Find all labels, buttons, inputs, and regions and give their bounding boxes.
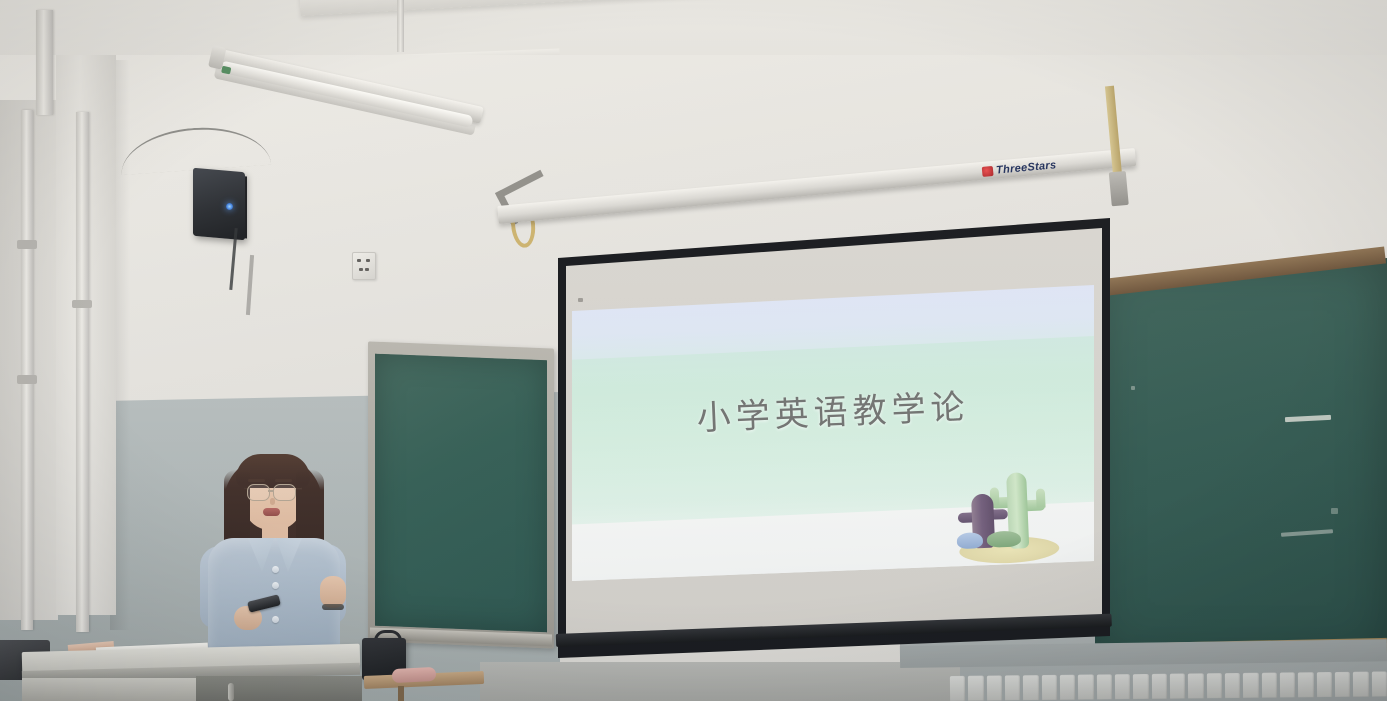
radiator-fin [1371,671,1387,696]
side-table-leg [398,686,404,701]
radiator-fin [1115,674,1131,699]
wristwatch [322,604,344,610]
projected-slide: 小学英语教学论 [572,285,1094,581]
eyebrow-right [275,479,292,482]
blouse-button [272,582,279,589]
chalk-dot [1331,508,1338,514]
eyebrow-left [248,479,265,482]
nose [270,498,275,505]
desk-door-handle[interactable] [228,683,234,701]
radiator-fin [1170,674,1186,699]
teacher-desk-front-panel [196,676,362,701]
pipe-clamp [17,375,37,384]
radiator-fin [1280,672,1296,697]
radiator-fin [987,675,1003,700]
teacher-desk-side [22,678,198,701]
radiator-fin [950,676,966,701]
chalk-dot [1131,386,1135,390]
pipe-clamp [72,300,92,308]
screen-surface-mark [578,298,583,302]
wall-power-socket[interactable] [352,252,376,280]
eyeglasses-bridge [268,490,274,492]
cactus-arm [992,509,1008,520]
desert-plant-blue [957,532,984,549]
wall-pipe-vertical-top [36,10,53,115]
radiator-fin [1353,672,1369,697]
classroom-photo-scene: ThreeStars 小学英语教学论 [0,0,1387,701]
radiator-fin [1151,674,1167,699]
mouth [263,508,280,516]
chalkboard-surface [375,354,547,633]
speaker-power-led [226,203,233,210]
radiator-fin [1096,674,1112,699]
radiator-fin [1243,673,1259,698]
floor-strip [480,662,960,701]
cactus-arm-upper [1036,488,1046,507]
presenter-figure [186,448,358,663]
pink-item-on-table[interactable] [392,667,437,683]
radiator-fin [968,676,984,701]
screen-mount-clamp [1109,171,1129,206]
chalkboard-left [368,341,554,648]
wall-pipe-left [21,110,33,630]
radiator-fin [1316,672,1332,697]
radiator-fin [1188,673,1204,698]
threestars-logo-icon [982,166,994,177]
wall-pipe-right [76,112,89,632]
radiator-fin [1023,675,1039,700]
radiator-fin [1005,675,1021,700]
radiator-fin [1225,673,1241,698]
radiator-fin [1060,675,1076,700]
cactus-illustration [948,469,1067,569]
chalkboard-surface [1095,258,1387,658]
radiator [950,671,1387,701]
eyeglasses-lens-right [273,484,296,501]
eyeglasses-lens-left [247,484,270,501]
light-suspension-rod [397,0,404,52]
radiator-fin [1133,674,1149,699]
blouse-button [272,616,279,623]
radiator-fin [1335,672,1351,697]
pipe-clamp [17,240,37,249]
desert-plant-green [987,530,1022,547]
radiator-fin [1261,673,1277,698]
radiator-fin [1042,675,1058,700]
radiator-fin [1206,673,1222,698]
radiator-fin [1078,674,1094,699]
chalkboard-right [1095,258,1387,658]
radiator-fin [1298,672,1314,697]
blouse-button [272,566,279,573]
